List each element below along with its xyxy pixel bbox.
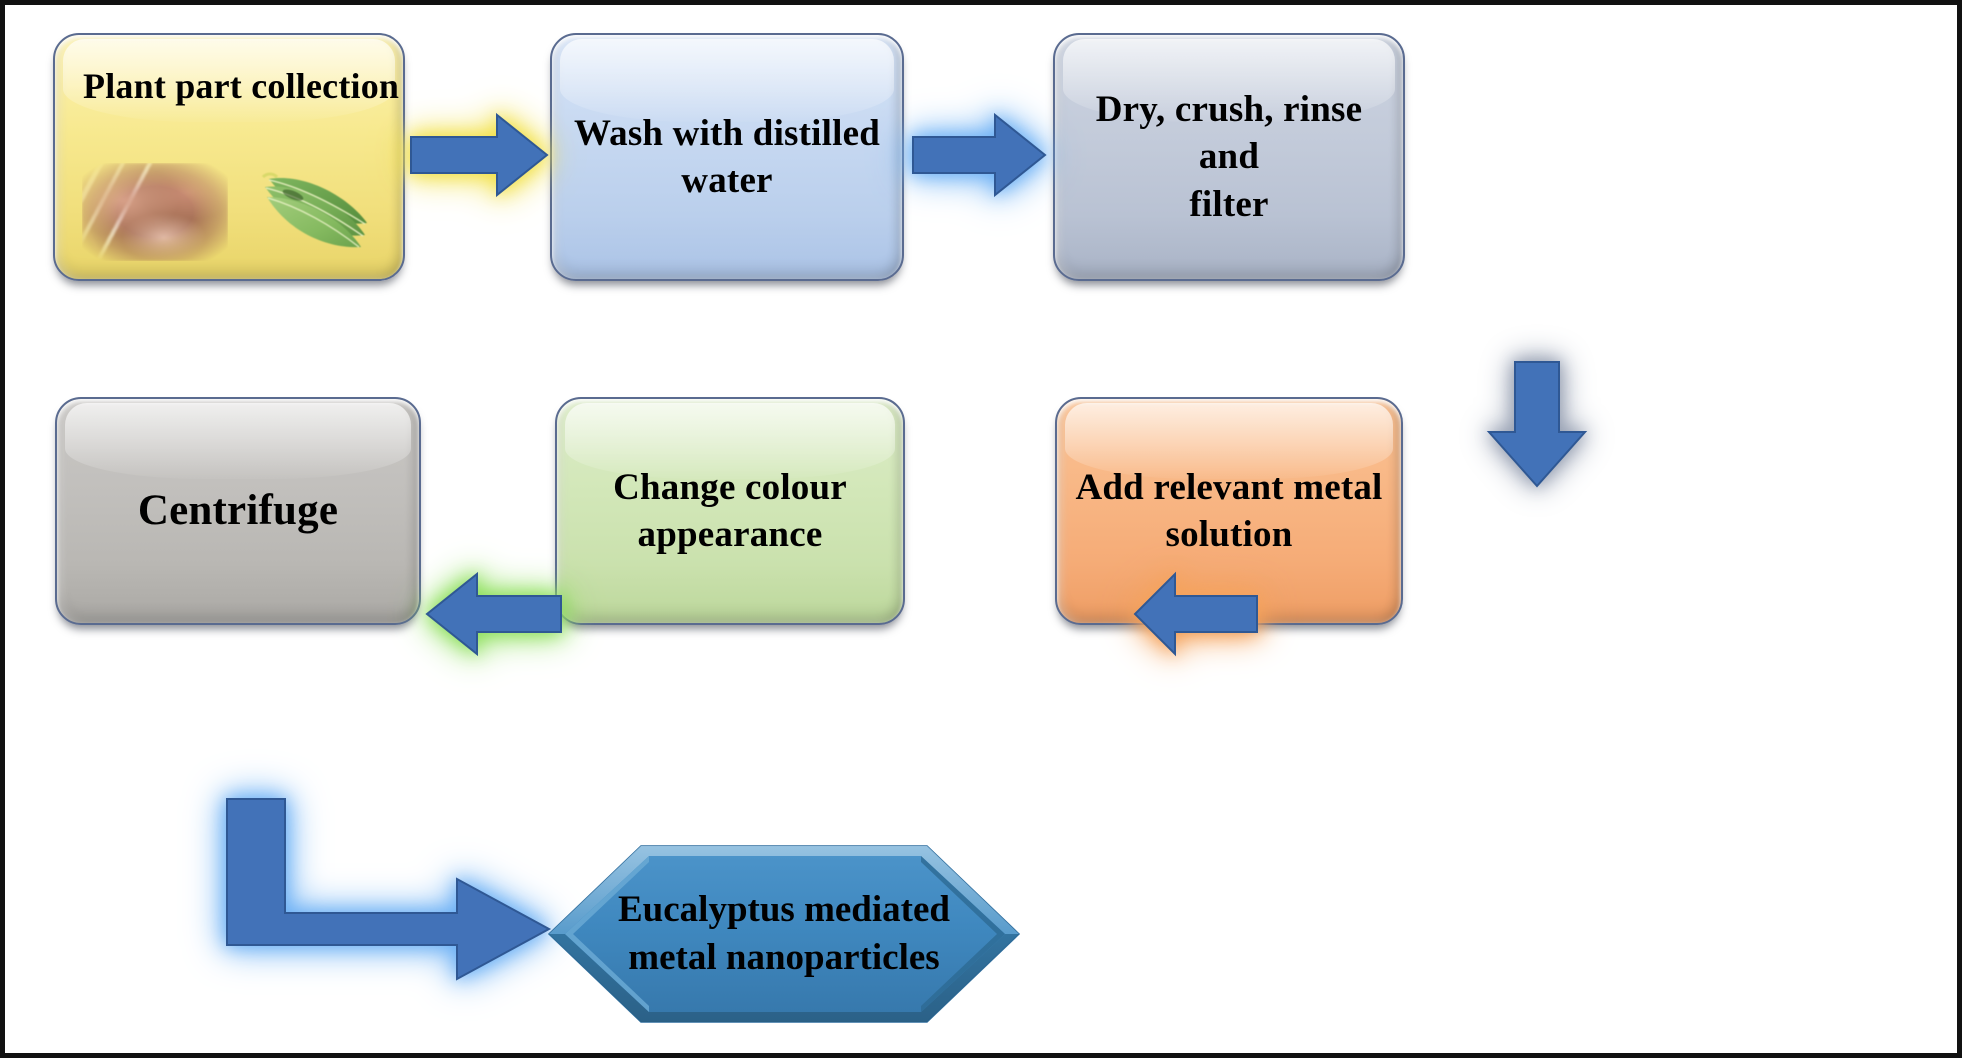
node-plant-part-collection[interactable]: Plant part collection: [53, 33, 405, 281]
line-2: water: [681, 160, 772, 201]
arrow-dry-to-metal: [1485, 360, 1589, 490]
line-1: Wash with distilled: [574, 113, 880, 154]
line-2: solution: [1165, 514, 1292, 555]
node-add-relevant-metal-solution-label: Add relevant metal solution: [1059, 464, 1398, 559]
arrow-colour-to-centrifuge: [425, 568, 563, 660]
arrow-plant-to-wash: [409, 109, 551, 201]
node-change-colour-appearance-label: Change colour appearance: [597, 464, 863, 559]
node-change-colour-appearance[interactable]: Change colour appearance: [555, 397, 905, 625]
line-1: Dry, crush, rinse and: [1096, 89, 1363, 177]
diagram-stage: Plant part collection: [5, 5, 1957, 1053]
line-1: Add relevant metal: [1075, 467, 1382, 508]
node-wash-with-distilled-water[interactable]: Wash with distilled water: [550, 33, 904, 281]
line-1: Change colour: [613, 467, 847, 508]
node-centrifuge[interactable]: Centrifuge: [55, 397, 421, 625]
node-wash-with-distilled-water-label: Wash with distilled water: [558, 110, 896, 205]
node-eucalyptus-mediated-metal-nanoparticles[interactable]: Eucalyptus mediated metal nanoparticles: [545, 843, 1023, 1025]
node-plant-part-collection-label: Plant part collection: [55, 35, 399, 109]
node-dry-crush-rinse-filter-label: Dry, crush, rinse and filter: [1055, 86, 1403, 228]
leaves-photo: [251, 161, 383, 253]
bark-photo: [82, 163, 228, 261]
line-2: filter: [1189, 184, 1268, 225]
arrow-centrifuge-to-nanoparticles: [223, 795, 553, 985]
diagram-frame: Plant part collection: [0, 0, 1962, 1058]
node-dry-crush-rinse-filter[interactable]: Dry, crush, rinse and filter: [1053, 33, 1405, 281]
node-centrifuge-label: Centrifuge: [122, 483, 354, 538]
arrow-wash-to-dry: [911, 109, 1049, 201]
line-2: appearance: [638, 514, 823, 555]
